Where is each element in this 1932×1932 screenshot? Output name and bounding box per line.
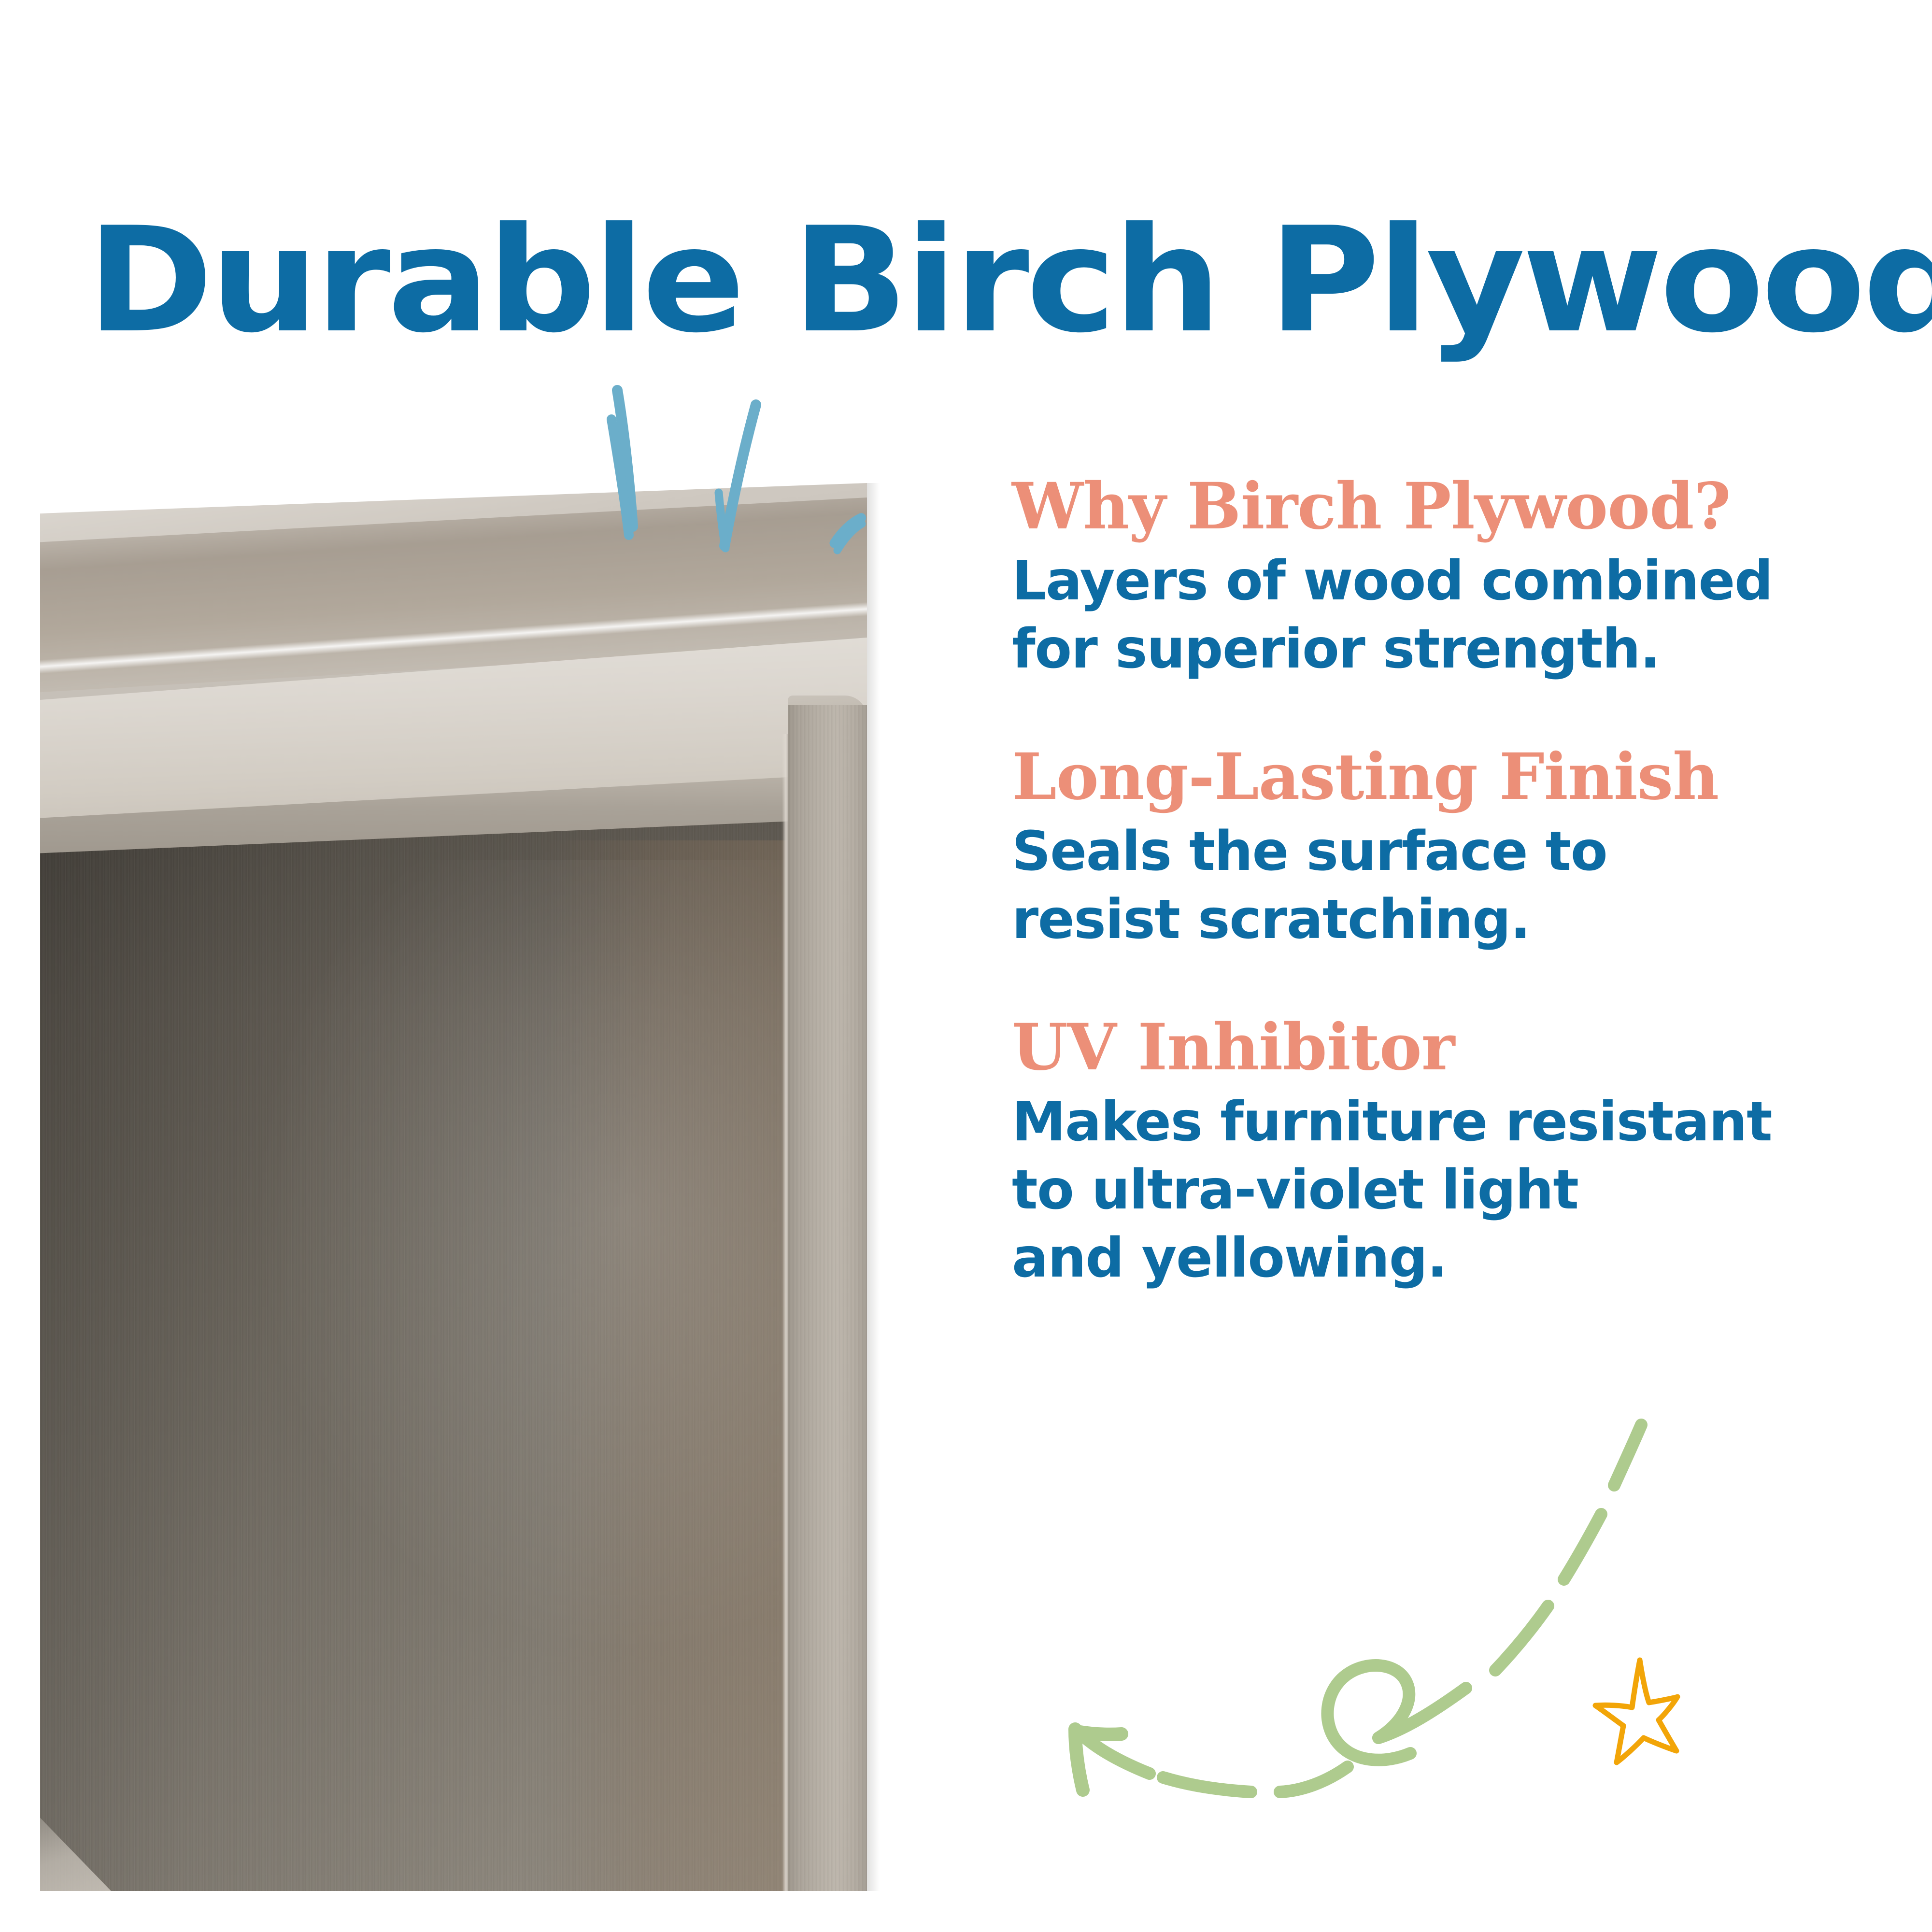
feature-heading-why-birch-plywood: Why Birch Plywood? xyxy=(1012,471,1881,542)
infographic-canvas: Durable Birch Plywood xyxy=(0,0,1932,1932)
yellow-star-icon xyxy=(1582,1625,1732,1765)
page-title: Durable Birch Plywood xyxy=(87,208,1932,353)
product-photo xyxy=(40,483,867,1891)
feature-block-3: UV Inhibitor Makes furniture resistant t… xyxy=(1012,1012,1881,1293)
feature-body-uv-inhibitor: Makes furniture resistant to ultra-viole… xyxy=(1012,1088,1881,1293)
photo-drop-shadow xyxy=(867,483,880,1891)
feature-body-long-lasting-finish: Seals the surface to resist scratching. xyxy=(1012,818,1881,954)
surface-sheen-highlight xyxy=(40,860,794,1874)
side-panel-grain-texture xyxy=(788,705,867,1891)
feature-block-1: Why Birch Plywood? Layers of wood combin… xyxy=(1012,471,1881,683)
feature-block-2: Long-Lasting Finish Seals the surface to… xyxy=(1012,741,1881,954)
feature-body-why-birch-plywood: Layers of wood combined for superior str… xyxy=(1012,547,1881,683)
feature-heading-uv-inhibitor: UV Inhibitor xyxy=(1012,1012,1881,1083)
feature-heading-long-lasting-finish: Long-Lasting Finish xyxy=(1012,741,1881,813)
green-curved-arrow-icon xyxy=(1029,1415,1657,1797)
feature-list: Why Birch Plywood? Layers of wood combin… xyxy=(1012,471,1881,1293)
